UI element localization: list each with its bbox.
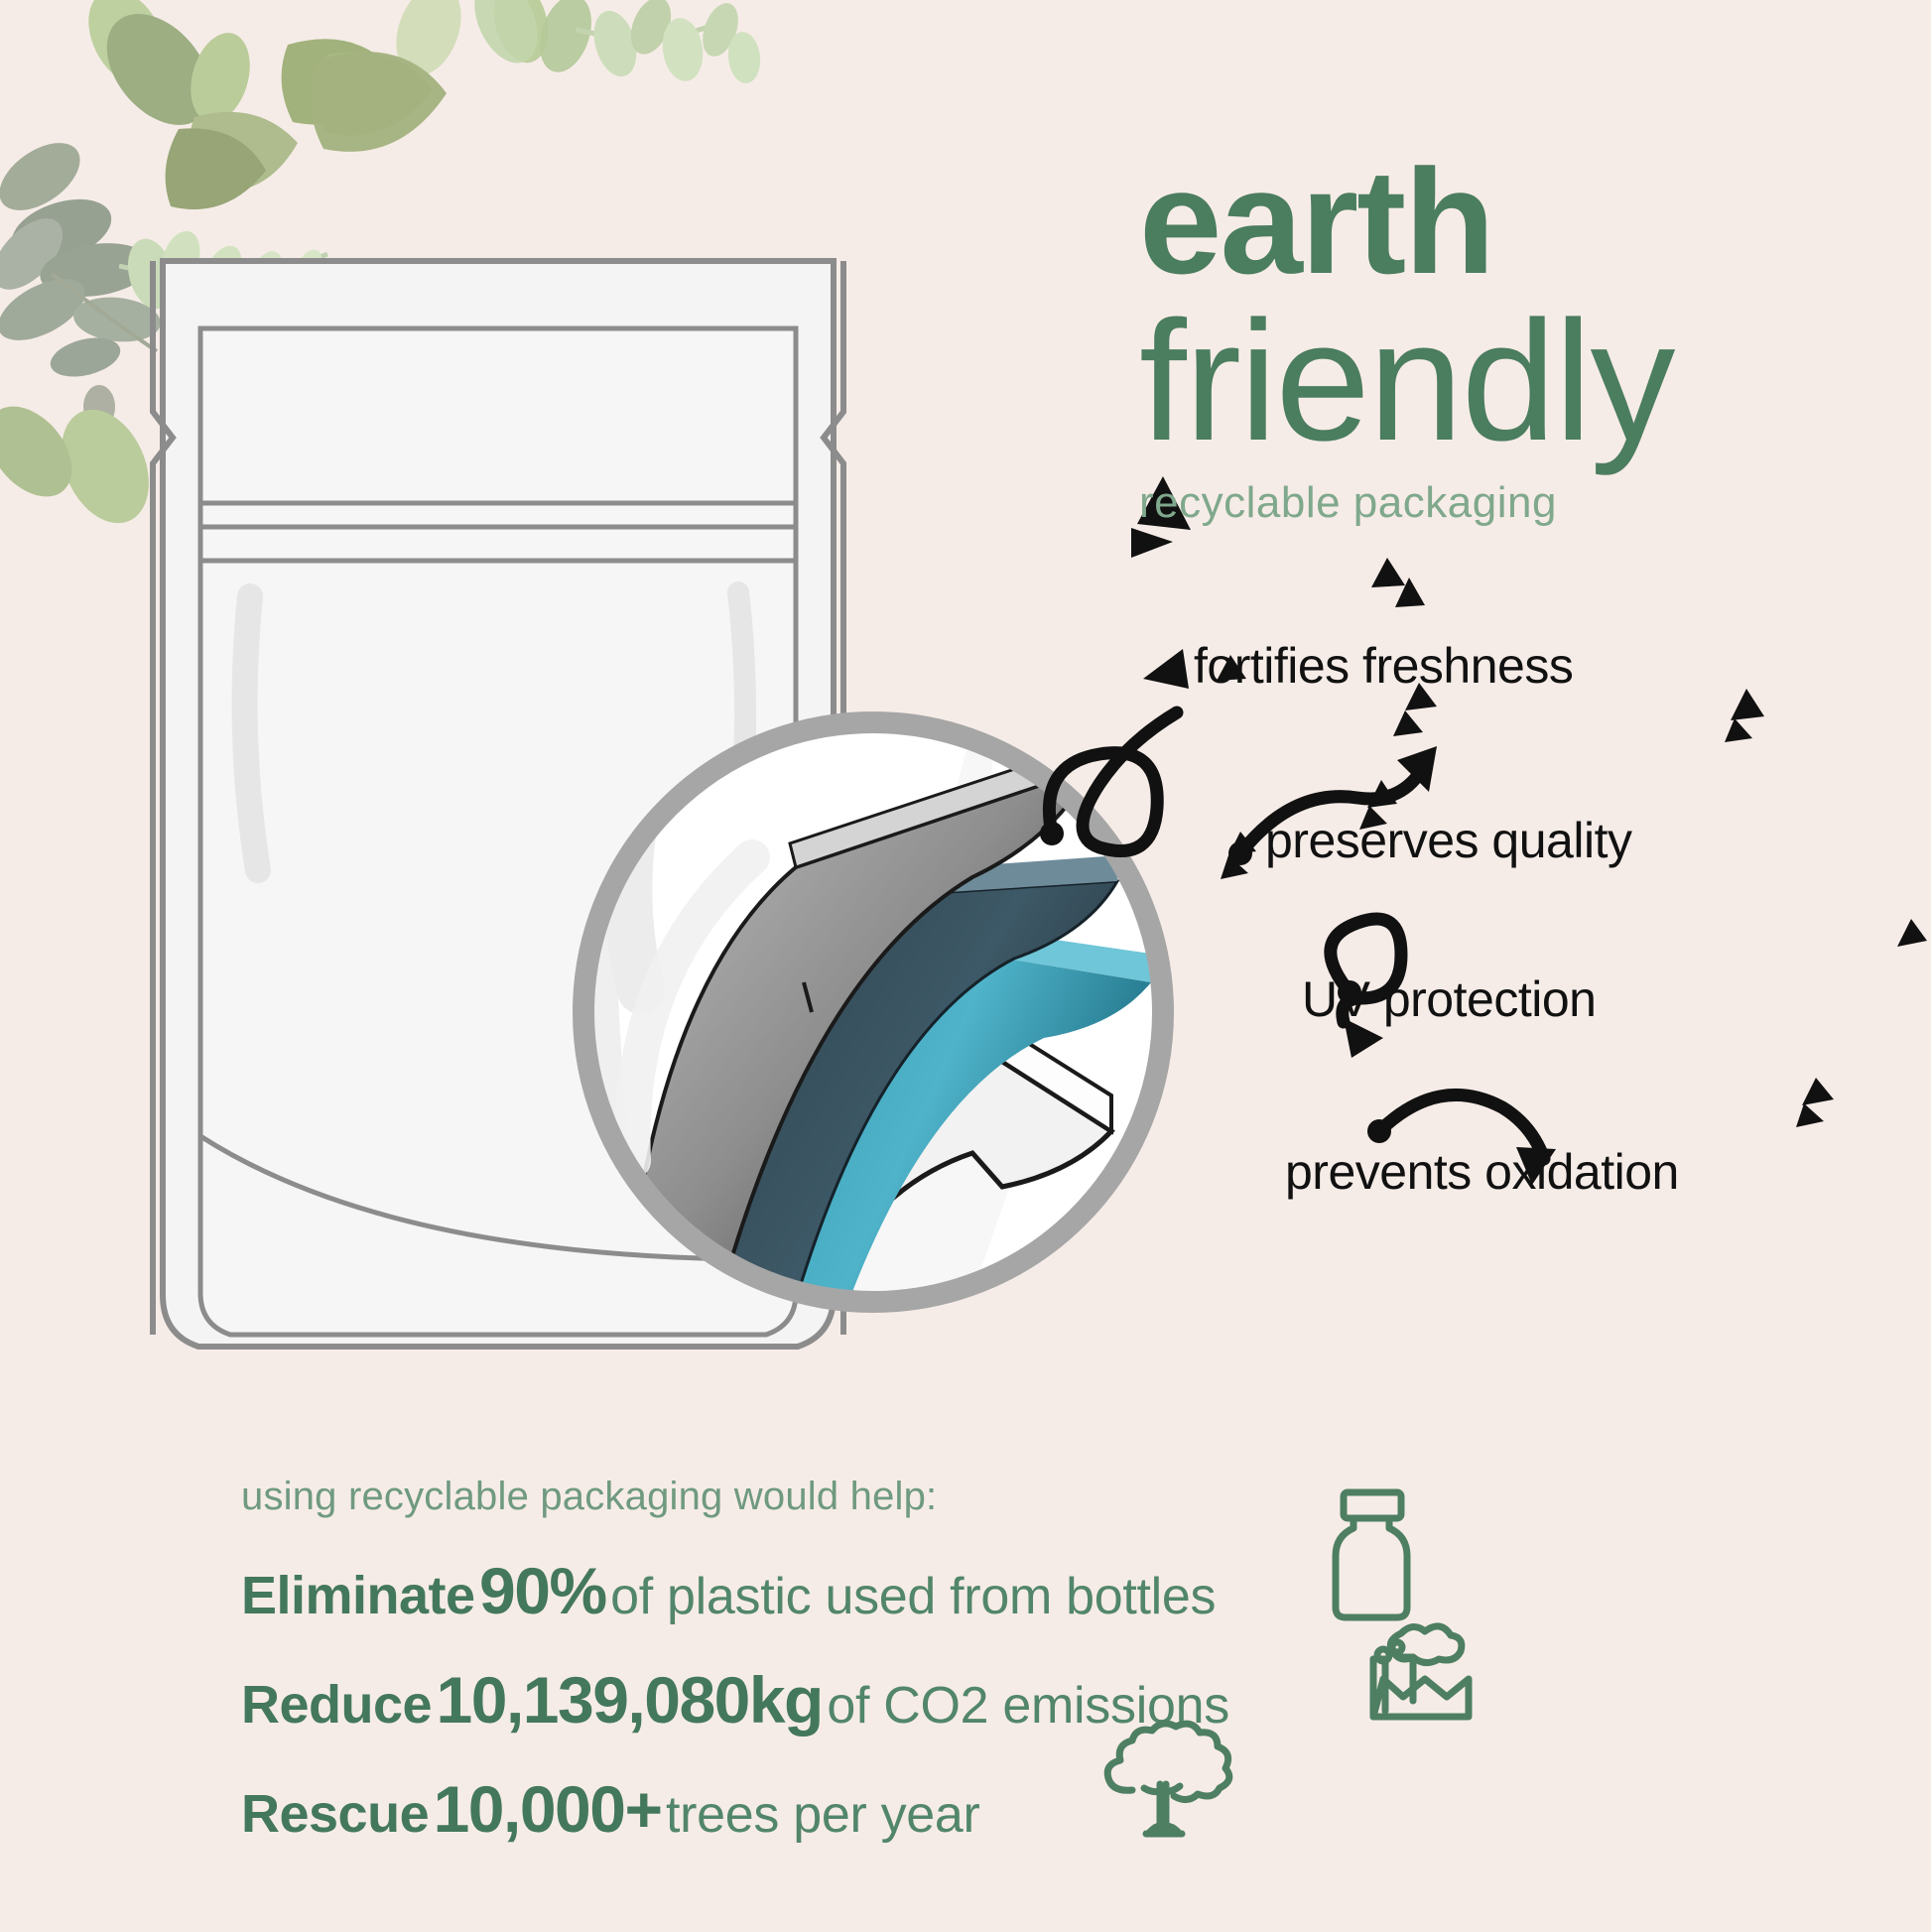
stat-row-eliminate: Eliminate 90% of plastic used from bottl…	[241, 1553, 1333, 1628]
feature-label-fortifies-freshness: fortifies freshness	[1194, 637, 1573, 695]
page-title-earth: earth	[1139, 149, 1893, 295]
stat-verb: Rescue	[241, 1784, 429, 1844]
heading-block: earth friendly recyclable packaging	[1139, 149, 1893, 528]
stat-number: 10,000+	[434, 1772, 662, 1846]
stat-number: 90%	[479, 1554, 606, 1627]
stat-verb: Eliminate	[241, 1566, 475, 1625]
stat-tail: of plastic used from bottles	[610, 1568, 1216, 1625]
feature-label-prevents-oxidation: prevents oxidation	[1285, 1143, 1679, 1201]
page-title-friendly: friendly	[1139, 301, 1893, 462]
bottle-icon	[1328, 1486, 1423, 1621]
leaf-decor-right	[427, 0, 754, 228]
page-subtitle: recyclable packaging	[1139, 478, 1893, 528]
feature-label-uv-protection: UV protection	[1302, 970, 1596, 1028]
stat-verb: Reduce	[241, 1675, 432, 1735]
stat-number: 10,139,080kg	[437, 1663, 823, 1737]
stats-intro: using recyclable packaging would help:	[241, 1475, 1333, 1519]
tree-icon	[1089, 1729, 1237, 1860]
stat-tail: trees per year	[666, 1786, 980, 1844]
infographic-canvas: earth friendly recyclable packaging fort…	[0, 0, 1931, 1932]
factory-icon	[1367, 1621, 1479, 1739]
feature-label-preserves-quality: preserves quality	[1265, 812, 1631, 869]
